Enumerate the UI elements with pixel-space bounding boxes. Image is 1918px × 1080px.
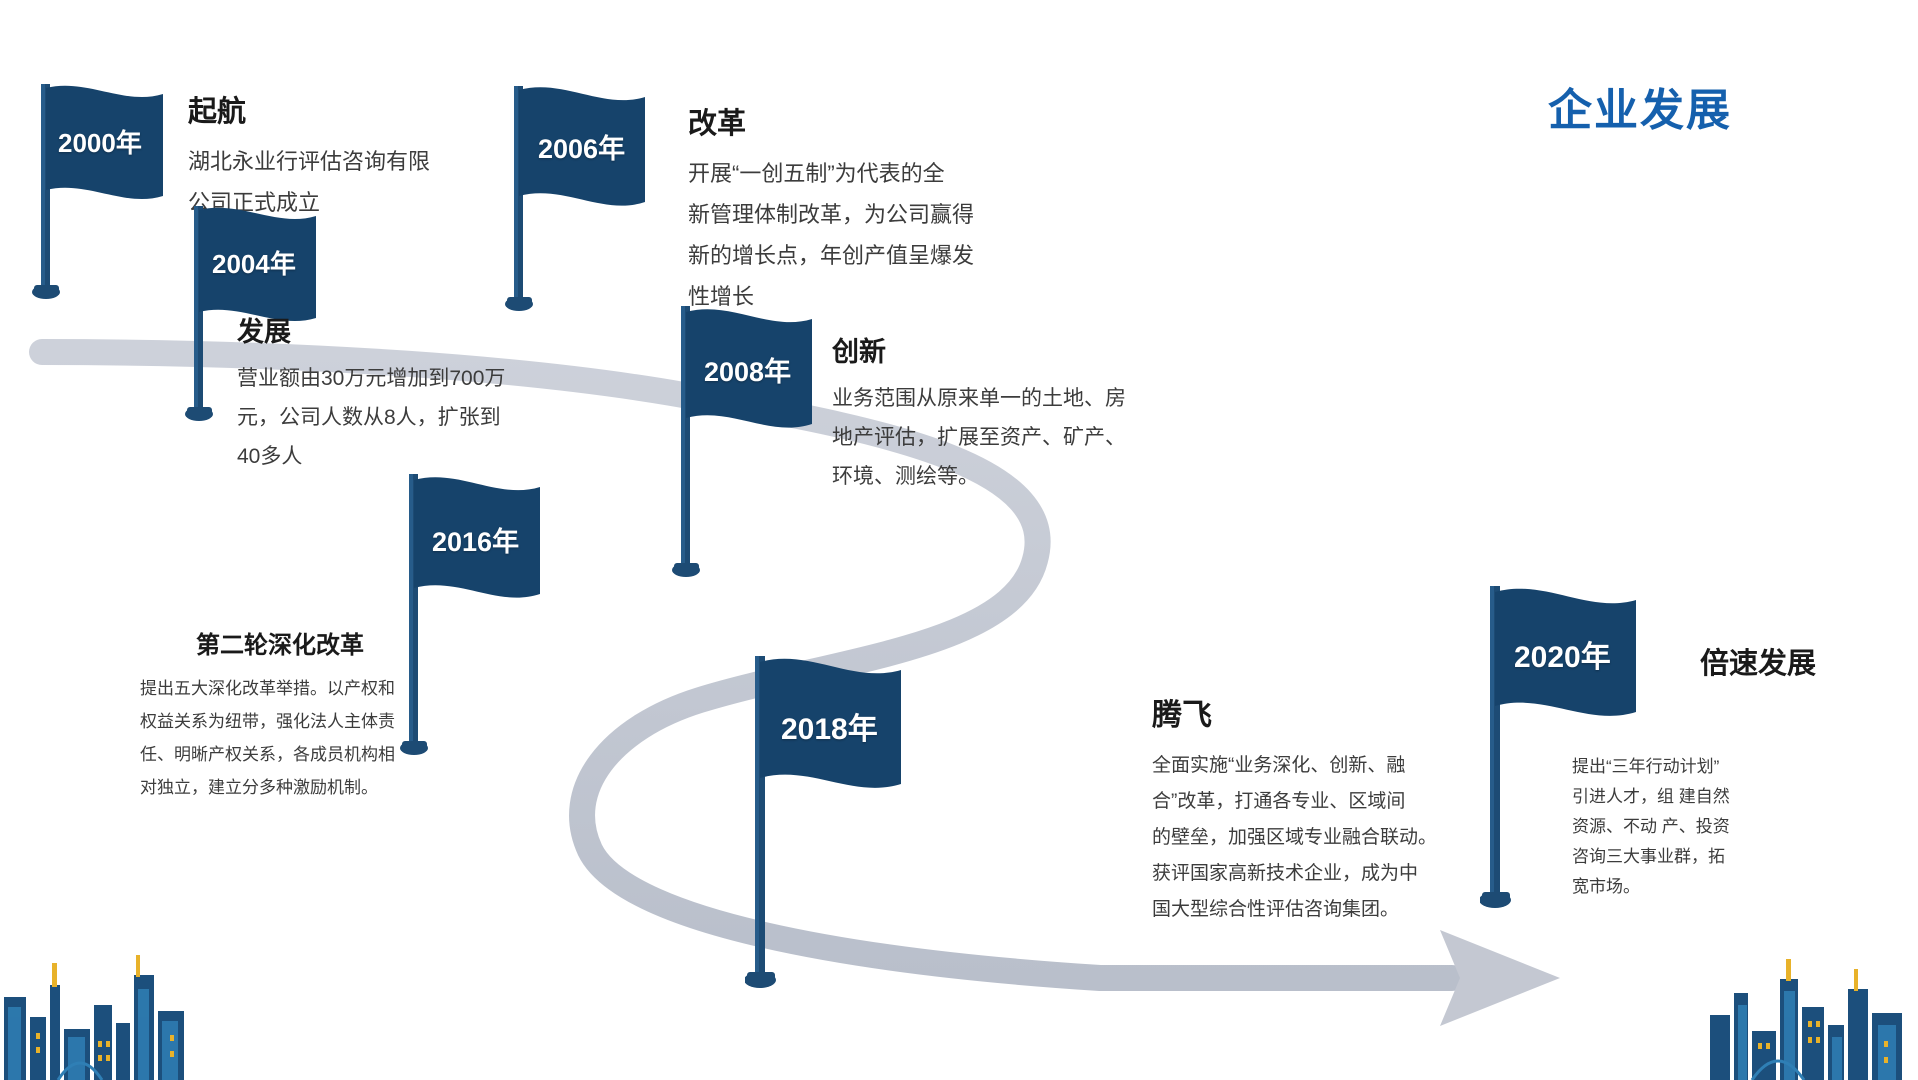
milestone-title-2020: 倍速发展 <box>1700 640 1816 682</box>
flag-icon-2006 <box>505 80 675 320</box>
milestone-body: 营业额由30万元增加到700万 元，公司人数从8人，扩张到 40多人 <box>237 359 547 476</box>
flag-2000[interactable]: 2000年 <box>32 78 192 308</box>
page-title: 企业发展 <box>1548 74 1732 138</box>
milestone-body: 提出五大深化改革举措。以产权和 权益关系为纽带，强化法人主体责 任、明晰产权关系… <box>140 672 420 804</box>
city-skyline-left <box>0 945 190 1080</box>
flag-icon-2000 <box>32 78 192 308</box>
flag-icon-2016 <box>400 468 570 768</box>
infographic-canvas: 2000年 起航 湖北永业行评估咨询有限 公司正式成立 2004年 发展 营业额… <box>0 0 1918 1080</box>
flag-2006[interactable]: 2006年 <box>505 80 675 320</box>
milestone-title: 改革 <box>688 100 1018 142</box>
flag-2018[interactable]: 2018年 <box>745 650 935 1000</box>
flag-year-label: 2000年 <box>58 123 142 160</box>
flag-year-label: 2020年 <box>1514 632 1611 676</box>
milestone-body: 业务范围从原来单一的土地、房 地产评估，扩展至资产、矿产、 环境、测绘等。 <box>832 379 1182 496</box>
flag-icon-2018 <box>745 650 935 1000</box>
flag-year-label: 2018年 <box>781 704 878 748</box>
milestone-title: 倍速发展 <box>1700 640 1816 682</box>
flag-year-label: 2008年 <box>704 350 791 389</box>
flag-year-label: 2006年 <box>538 127 625 166</box>
milestone-title: 发展 <box>237 310 547 349</box>
city-skyline-right <box>1708 945 1908 1080</box>
milestone-title: 第二轮深化改革 <box>140 625 420 660</box>
flag-2008[interactable]: 2008年 <box>672 300 842 590</box>
flag-icon-2008 <box>672 300 842 590</box>
milestone-title: 创新 <box>832 330 1182 369</box>
milestone-body: 全面实施“业务深化、创新、融 合”改革，打通各专业、区域间 的壁垒，加强区域专业… <box>1152 748 1472 928</box>
flag-year-label: 2016年 <box>432 520 519 559</box>
milestone-title: 起航 <box>188 88 488 130</box>
flag-year-label: 2004年 <box>212 244 296 281</box>
flag-2016[interactable]: 2016年 <box>400 468 570 768</box>
milestone-body: 提出“三年行动计划” 引进人才，组 建自然 资源、不动 产、投资 咨询三大事业群… <box>1572 752 1802 902</box>
milestone-text-2016: 第二轮深化改革 提出五大深化改革举措。以产权和 权益关系为纽带，强化法人主体责 … <box>140 625 420 804</box>
milestone-text-2008: 创新 业务范围从原来单一的土地、房 地产评估，扩展至资产、矿产、 环境、测绘等。 <box>832 330 1182 496</box>
milestone-text-2020: 提出“三年行动计划” 引进人才，组 建自然 资源、不动 产、投资 咨询三大事业群… <box>1572 752 1802 902</box>
milestone-title: 腾飞 <box>1152 690 1472 734</box>
milestone-text-2006: 改革 开展“一创五制”为代表的全 新管理体制改革，为公司赢得 新的增长点，年创产… <box>688 100 1018 317</box>
milestone-body: 开展“一创五制”为代表的全 新管理体制改革，为公司赢得 新的增长点，年创产值呈爆… <box>688 153 1018 317</box>
milestone-text-2018: 腾飞 全面实施“业务深化、创新、融 合”改革，打通各专业、区域间 的壁垒，加强区… <box>1152 690 1472 928</box>
milestone-text-2004: 发展 营业额由30万元增加到700万 元，公司人数从8人，扩张到 40多人 <box>237 310 547 476</box>
